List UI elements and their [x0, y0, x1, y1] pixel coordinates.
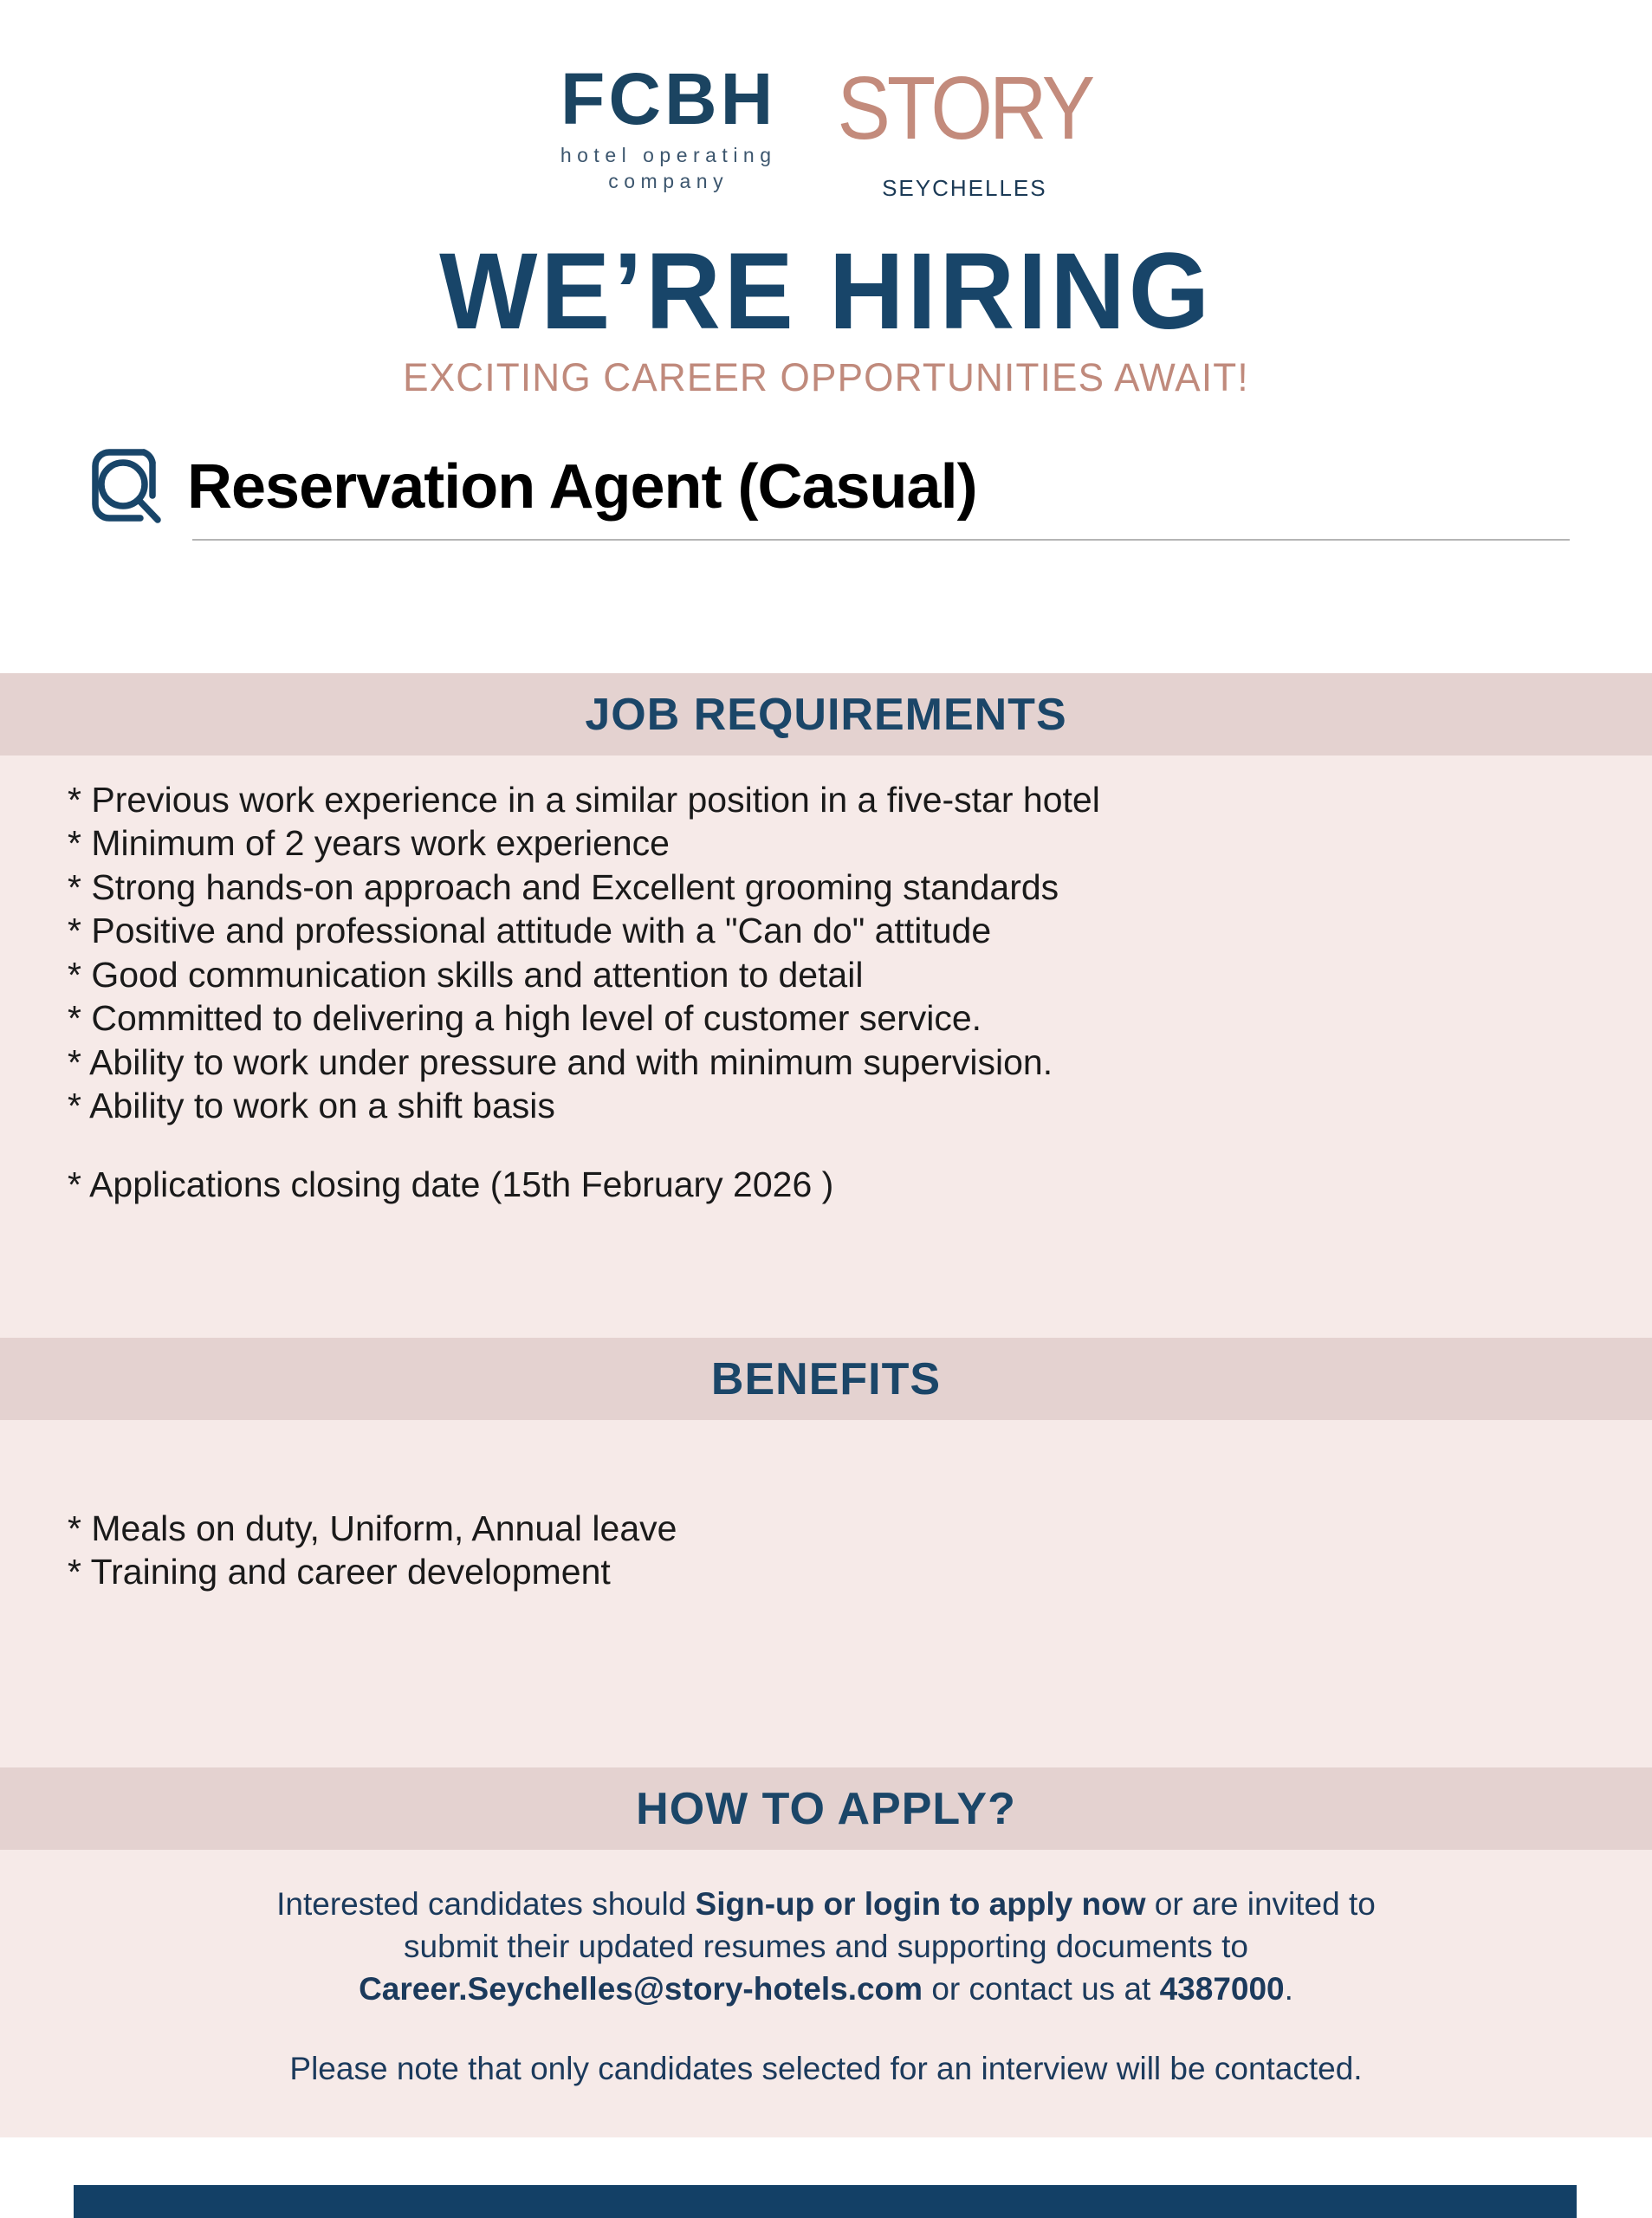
requirements-list: * Previous work experience in a similar …: [68, 756, 1652, 1207]
hero-subheadline: EXCITING CAREER OPPORTUNITIES AWAIT!: [16, 358, 1636, 397]
list-item: * Meals on duty, Uniform, Annual leave: [68, 1507, 1652, 1550]
story-logo: STORY SEYCHELLES: [838, 62, 1092, 199]
apply-line3-end: .: [1285, 1971, 1293, 2007]
fcbh-wordmark: FCBH: [560, 62, 777, 135]
section-header-benefits: BENEFITS: [0, 1338, 1652, 1420]
fcbh-tagline-line1: hotel operating: [560, 146, 777, 165]
page-title: Reservation Agent (Casual): [187, 456, 977, 518]
section-body-apply: Interested candidates should Sign-up or …: [0, 1850, 1652, 2137]
list-item: * Ability to work on a shift basis: [68, 1084, 1652, 1127]
list-item: * Positive and professional attitude wit…: [68, 909, 1652, 952]
section-header-apply: HOW TO APPLY?: [0, 1767, 1652, 1850]
fcbh-tagline-line2: company: [560, 172, 777, 191]
list-item: * Good communication skills and attentio…: [68, 953, 1652, 996]
section-body-requirements: * Previous work experience in a similar …: [0, 756, 1652, 1338]
list-item: * Committed to delivering a high level o…: [68, 996, 1652, 1040]
logo-row: FCBH hotel operating company STORY SEYCH…: [0, 0, 1652, 199]
list-item: * Strong hands-on approach and Excellent…: [68, 866, 1652, 909]
apply-email[interactable]: Career.Seychelles@story-hotels.com: [359, 1971, 923, 2007]
list-item: * Ability to work under pressure and wit…: [68, 1041, 1652, 1084]
fcbh-logo: FCBH hotel operating company: [560, 62, 777, 191]
benefits-list: * Meals on duty, Uniform, Annual leave *…: [68, 1420, 1652, 1594]
list-item: * Previous work experience in a similar …: [68, 778, 1652, 821]
apply-line1-suffix: or are invited to: [1146, 1886, 1376, 1922]
title-divider: [192, 539, 1570, 541]
list-item: * Minimum of 2 years work experience: [68, 821, 1652, 865]
hero-headline: WE’RE HIRING: [33, 237, 1619, 346]
list-item: * Training and career development: [68, 1550, 1652, 1593]
apply-line1-prefix: Interested candidates should: [276, 1886, 695, 1922]
spacer: [68, 1127, 1652, 1163]
section-body-benefits: * Meals on duty, Uniform, Annual leave *…: [0, 1420, 1652, 1767]
section-header-requirements: JOB REQUIREMENTS: [0, 673, 1652, 756]
job-title-row: Reservation Agent (Casual): [0, 447, 1652, 527]
apply-instructions: Interested candidates should Sign-up or …: [0, 1850, 1652, 2011]
magnifier-icon: [87, 444, 163, 523]
apply-note: Please note that only candidates selecte…: [0, 2011, 1652, 2087]
footer-bar: [74, 2185, 1577, 2218]
apply-phone[interactable]: 4387000: [1160, 1971, 1285, 2007]
closing-date: * Applications closing date (15th Februa…: [68, 1163, 1652, 1206]
story-wordmark: STORY: [838, 64, 1092, 153]
apply-signup-link[interactable]: Sign-up or login to apply now: [696, 1886, 1146, 1922]
apply-line2: submit their updated resumes and support…: [404, 1929, 1248, 1964]
poster-header: FCBH hotel operating company STORY SEYCH…: [0, 0, 1652, 673]
apply-line3-mid: or contact us at: [923, 1971, 1160, 2007]
story-location-label: SEYCHELLES: [838, 177, 1092, 199]
